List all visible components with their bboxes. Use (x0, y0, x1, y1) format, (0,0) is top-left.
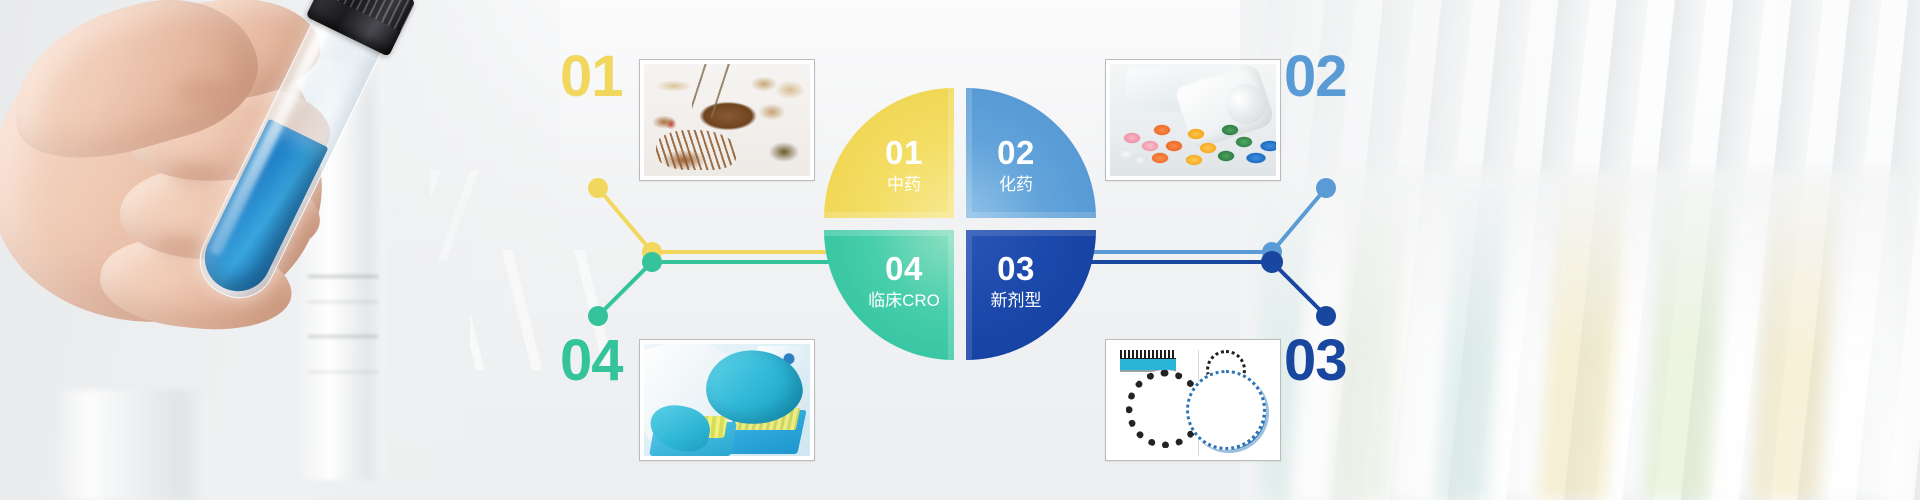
index-number-02: 02 (1284, 48, 1347, 106)
background-test-tubes-blur (1260, 170, 1900, 500)
pharma-service-banner: 01 中药 02 化药 04 临床CRO 03 新剂型 (0, 0, 1920, 500)
colored-tablets (1110, 116, 1280, 172)
diagram-bilayer-heads (1120, 350, 1176, 358)
wheel-quadrant-04-label: 临床CRO (868, 292, 940, 309)
wheel-quadrant-01-label: 中药 (887, 176, 921, 193)
thumbnail-diagram[interactable] (1106, 340, 1280, 460)
four-quadrant-wheel: 01 中药 02 化药 04 临床CRO 03 新剂型 (824, 88, 1096, 360)
connector-dot-01-junction (642, 242, 662, 262)
diagram-liposome-shell (1186, 370, 1266, 450)
connector-dot-03-junction (1261, 251, 1283, 273)
hand-knuckle-1 (176, 78, 224, 104)
index-number-01: 01 (560, 48, 623, 106)
connector-dot-04-outer (588, 306, 608, 326)
wheel-quadrant-01-number: 01 (885, 136, 923, 169)
wheel-quadrant-02-number: 02 (997, 136, 1035, 169)
wheel-quadrant-02-label: 化药 (999, 176, 1033, 193)
connector-dot-01-outer (588, 178, 608, 198)
watermark-strokes-2 (430, 170, 630, 260)
thumbnail-pills[interactable] (1106, 60, 1280, 180)
pill-bottle-background (1126, 68, 1182, 112)
dried-roots (656, 130, 736, 170)
connector-dot-02-outer (1316, 178, 1336, 198)
wheel-quadrant-01[interactable]: 01 中药 (824, 88, 954, 218)
wheel-quadrant-04-number: 04 (885, 252, 923, 285)
wheel-quadrant-03[interactable]: 03 新剂型 (966, 230, 1096, 360)
wheel-quadrant-04[interactable]: 04 临床CRO (824, 230, 954, 360)
thumbnail-lab[interactable] (640, 340, 814, 460)
scale-strings (692, 64, 752, 118)
wheel-quadrant-03-label: 新剂型 (991, 292, 1042, 309)
hand-holding-test-tube-illustration (0, 0, 450, 452)
thumbnail-herbs[interactable] (640, 60, 814, 180)
connector-dot-02-junction (1262, 242, 1282, 262)
connector-dot-04-junction (642, 252, 662, 272)
wheel-quadrant-02[interactable]: 02 化药 (966, 88, 1096, 218)
index-number-04: 04 (560, 332, 623, 390)
index-number-03: 03 (1284, 332, 1347, 390)
connector-dot-03-outer (1316, 306, 1336, 326)
wheel-quadrant-03-number: 03 (997, 252, 1035, 285)
